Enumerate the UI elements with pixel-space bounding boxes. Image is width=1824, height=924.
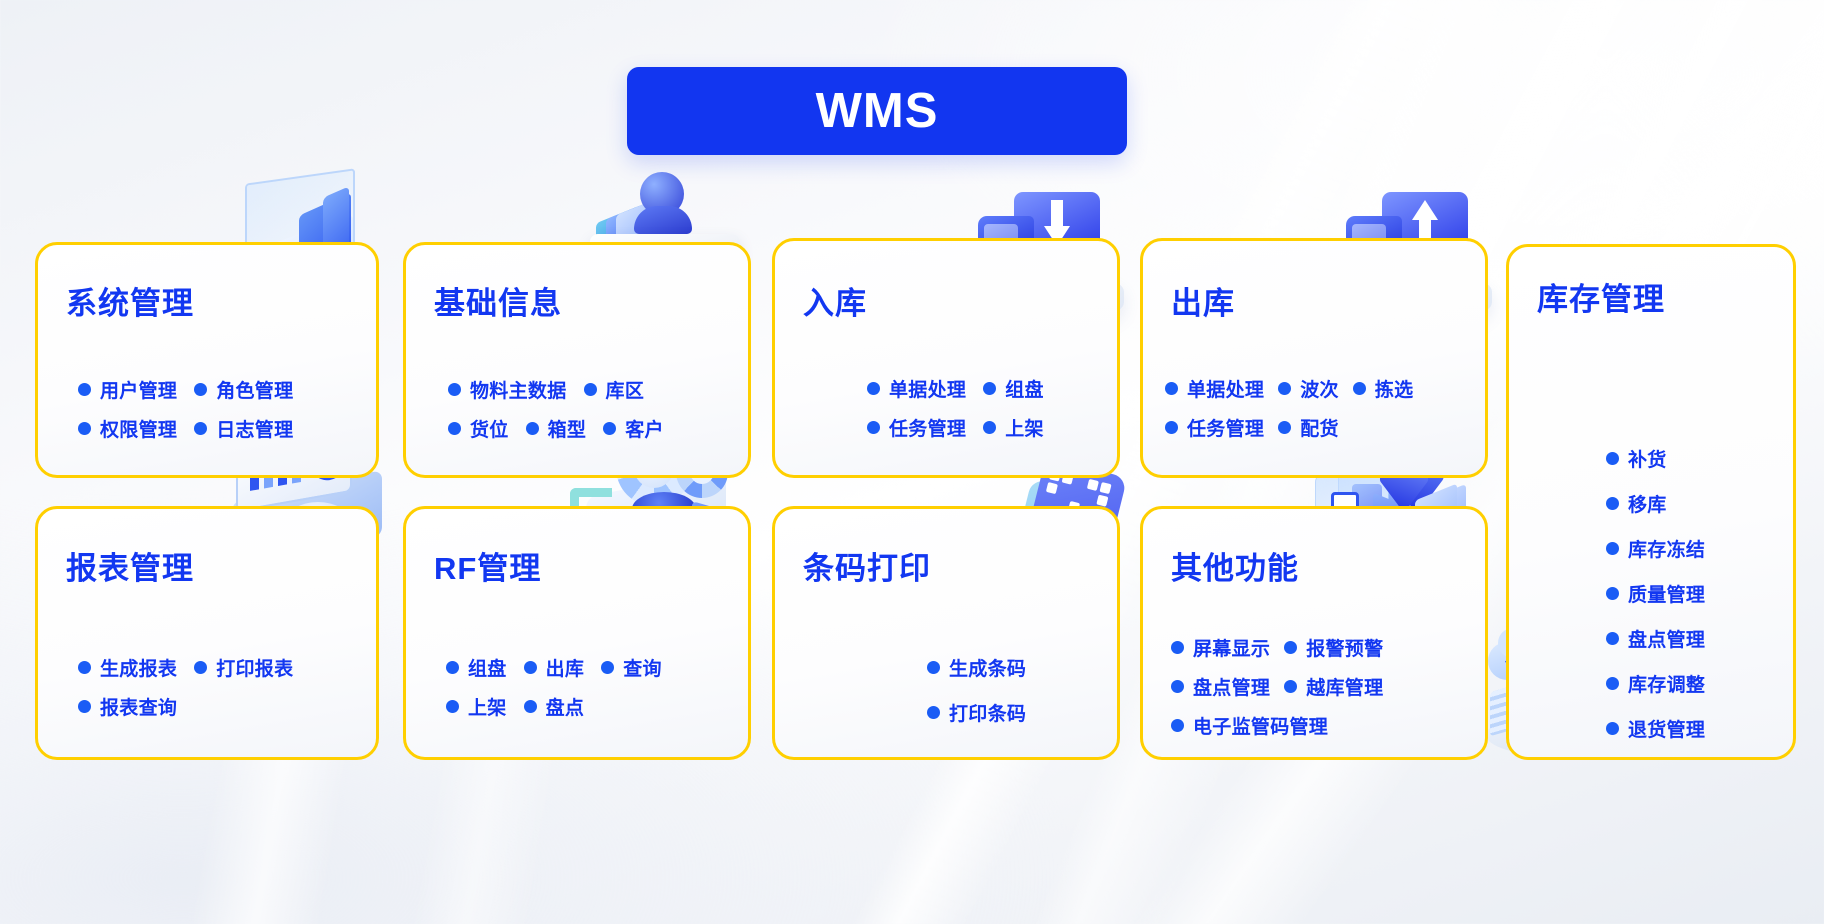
card-other-functions[interactable]: 其他功能 屏幕显示 报警预警 盘点管理 越库管理 电子监管码管理 <box>1140 506 1488 760</box>
list-item-label: 上架 <box>1005 414 1044 441</box>
list-item-label: 电子监管码管理 <box>1193 712 1328 739</box>
list-item[interactable]: 报表查询 <box>78 693 177 720</box>
list-item-label: 报表查询 <box>100 693 177 720</box>
bullet-dot-icon <box>1284 641 1297 654</box>
bullet-dot-icon <box>194 661 207 674</box>
list-item[interactable]: 生成条码 <box>927 654 1117 681</box>
list-item[interactable]: 质量管理 <box>1606 580 1791 607</box>
card-item-list: 补货 移库 库存冻结 质量管理 盘点管理 库存调整 退货管理 <box>1606 445 1791 742</box>
list-item-label: 出库 <box>546 654 585 681</box>
list-item[interactable]: 箱型 <box>526 415 587 442</box>
list-item[interactable]: 电子监管码管理 <box>1171 712 1328 739</box>
list-item-label: 移库 <box>1628 490 1667 517</box>
list-item-label: 退货管理 <box>1628 715 1705 742</box>
card-item-list: 物料主数据 库区 货位 箱型 客户 <box>448 376 720 442</box>
list-item-label: 补货 <box>1628 445 1667 472</box>
list-item-label: 盘点 <box>546 693 585 720</box>
card-title: 其他功能 <box>1171 543 1299 588</box>
bullet-dot-icon <box>983 421 996 434</box>
bullet-dot-icon <box>448 422 461 435</box>
list-item[interactable]: 补货 <box>1606 445 1791 472</box>
list-item[interactable]: 查询 <box>601 654 662 681</box>
bullet-dot-icon <box>1606 497 1619 510</box>
bullet-dot-icon <box>603 422 616 435</box>
bullet-dot-icon <box>1284 680 1297 693</box>
bullet-dot-icon <box>1606 632 1619 645</box>
bullet-dot-icon <box>78 383 91 396</box>
list-item[interactable]: 打印条码 <box>927 699 1117 726</box>
card-title: RF管理 <box>434 543 541 588</box>
list-item-label: 越库管理 <box>1306 673 1383 700</box>
bullet-dot-icon <box>983 382 996 395</box>
bullet-dot-icon <box>601 661 614 674</box>
list-item-label: 报警预警 <box>1306 634 1383 661</box>
card-title: 库存管理 <box>1537 274 1665 319</box>
bullet-dot-icon <box>1278 421 1291 434</box>
list-item[interactable]: 客户 <box>603 415 664 442</box>
list-item[interactable]: 退货管理 <box>1606 715 1791 742</box>
card-inventory-management[interactable]: 库存管理 补货 移库 库存冻结 质量管理 盘点管理 库存调整 退货管理 <box>1506 244 1796 760</box>
bullet-dot-icon <box>446 700 459 713</box>
list-item[interactable]: 物料主数据 <box>448 376 567 403</box>
card-barcode-printing[interactable]: 条码打印 生成条码 打印条码 <box>772 506 1120 760</box>
card-item-list: 单据处理 组盘 任务管理 上架 <box>867 375 1107 441</box>
card-item-list: 组盘 出库 查询 上架 盘点 <box>446 654 726 720</box>
list-item[interactable]: 盘点 <box>524 693 585 720</box>
list-item-label: 物料主数据 <box>470 376 567 403</box>
card-system-management[interactable]: 系统管理 用户管理 角色管理 权限管理 日志管理 <box>35 242 379 478</box>
bullet-dot-icon <box>1165 382 1178 395</box>
list-item[interactable]: 组盘 <box>983 375 1044 402</box>
bullet-dot-icon <box>1606 542 1619 555</box>
card-title: 出库 <box>1171 278 1235 323</box>
list-item[interactable]: 波次 <box>1278 375 1339 402</box>
card-item-list: 屏幕显示 报警预警 盘点管理 越库管理 电子监管码管理 <box>1171 634 1483 739</box>
bullet-dot-icon <box>526 422 539 435</box>
bullet-dot-icon <box>927 706 940 719</box>
card-title: 基础信息 <box>434 278 562 323</box>
list-item-label: 库存调整 <box>1628 670 1705 697</box>
wms-title-label: WMS <box>816 83 939 139</box>
list-item[interactable]: 拣选 <box>1353 375 1414 402</box>
list-item-label: 客户 <box>625 415 664 442</box>
list-item-label: 任务管理 <box>1187 414 1264 441</box>
bullet-dot-icon <box>927 661 940 674</box>
bullet-dot-icon <box>1165 421 1178 434</box>
bullet-dot-icon <box>1606 587 1619 600</box>
card-item-list: 生成条码 打印条码 <box>927 654 1117 726</box>
list-item-label: 盘点管理 <box>1193 673 1270 700</box>
list-item[interactable]: 库区 <box>584 376 645 403</box>
list-item-label: 角色管理 <box>216 376 293 403</box>
list-item-label: 打印条码 <box>949 699 1026 726</box>
list-item-label: 货位 <box>470 415 509 442</box>
card-outbound[interactable]: 出库 单据处理 波次 拣选 任务管理 配货 <box>1140 238 1488 478</box>
bullet-dot-icon <box>446 661 459 674</box>
list-item[interactable]: 日志管理 <box>194 415 293 442</box>
list-item-label: 权限管理 <box>100 415 177 442</box>
list-item[interactable]: 用户管理 <box>78 376 177 403</box>
list-item[interactable]: 出库 <box>524 654 585 681</box>
card-item-list: 单据处理 波次 拣选 任务管理 配货 <box>1165 375 1485 441</box>
bullet-dot-icon <box>1171 641 1184 654</box>
bullet-dot-icon <box>524 700 537 713</box>
list-item[interactable]: 单据处理 <box>1165 375 1264 402</box>
bullet-dot-icon <box>194 383 207 396</box>
list-item[interactable]: 任务管理 <box>867 414 966 441</box>
bullet-dot-icon <box>1606 677 1619 690</box>
card-title: 报表管理 <box>66 543 194 588</box>
bullet-dot-icon <box>448 383 461 396</box>
list-item[interactable]: 库存调整 <box>1606 670 1791 697</box>
list-item-label: 波次 <box>1300 375 1339 402</box>
list-item[interactable]: 越库管理 <box>1284 673 1383 700</box>
list-item-label: 组盘 <box>468 654 507 681</box>
list-item-label: 生成条码 <box>949 654 1026 681</box>
list-item-label: 拣选 <box>1375 375 1414 402</box>
list-item[interactable]: 库存冻结 <box>1606 535 1791 562</box>
wms-title-badge: WMS <box>627 67 1127 155</box>
card-item-list: 用户管理 角色管理 权限管理 日志管理 <box>78 376 346 442</box>
bullet-dot-icon <box>1171 719 1184 732</box>
list-item[interactable]: 配货 <box>1278 414 1339 441</box>
list-item-label: 箱型 <box>548 415 587 442</box>
list-item[interactable]: 货位 <box>448 415 509 442</box>
card-rf-management[interactable]: RF管理 组盘 出库 查询 上架 盘点 <box>403 506 751 760</box>
list-item-label: 质量管理 <box>1628 580 1705 607</box>
list-item-label: 打印报表 <box>216 654 293 681</box>
list-item-label: 单据处理 <box>889 375 966 402</box>
list-item-label: 用户管理 <box>100 376 177 403</box>
list-item-label: 查询 <box>623 654 662 681</box>
list-item[interactable]: 任务管理 <box>1165 414 1264 441</box>
bullet-dot-icon <box>78 422 91 435</box>
list-item[interactable]: 权限管理 <box>78 415 177 442</box>
list-item-label: 任务管理 <box>889 414 966 441</box>
list-item-label: 库存冻结 <box>1628 535 1705 562</box>
bullet-dot-icon <box>1171 680 1184 693</box>
list-item-label: 单据处理 <box>1187 375 1264 402</box>
card-inbound[interactable]: 入库 单据处理 组盘 任务管理 上架 <box>772 238 1120 478</box>
card-report-management[interactable]: 报表管理 生成报表 打印报表 报表查询 <box>35 506 379 760</box>
bullet-dot-icon <box>524 661 537 674</box>
bullet-dot-icon <box>867 382 880 395</box>
list-item-label: 库区 <box>606 376 645 403</box>
bullet-dot-icon <box>1606 722 1619 735</box>
list-item[interactable]: 生成报表 <box>78 654 177 681</box>
list-item[interactable]: 角色管理 <box>194 376 293 403</box>
list-item[interactable]: 上架 <box>983 414 1044 441</box>
list-item[interactable]: 组盘 <box>446 654 507 681</box>
bullet-dot-icon <box>78 700 91 713</box>
card-title: 系统管理 <box>66 278 194 323</box>
list-item-label: 上架 <box>468 693 507 720</box>
list-item-label: 配货 <box>1300 414 1339 441</box>
list-item-label: 盘点管理 <box>1628 625 1705 652</box>
bullet-dot-icon <box>1353 382 1366 395</box>
list-item-label: 生成报表 <box>100 654 177 681</box>
bullet-dot-icon <box>194 422 207 435</box>
list-item[interactable]: 打印报表 <box>194 654 293 681</box>
list-item[interactable]: 上架 <box>446 693 507 720</box>
bullet-dot-icon <box>1278 382 1291 395</box>
list-item[interactable]: 移库 <box>1606 490 1791 517</box>
list-item[interactable]: 盘点管理 <box>1171 673 1270 700</box>
list-item[interactable]: 报警预警 <box>1284 634 1383 661</box>
list-item[interactable]: 屏幕显示 <box>1171 634 1270 661</box>
list-item-label: 日志管理 <box>216 415 293 442</box>
bullet-dot-icon <box>584 383 597 396</box>
bullet-dot-icon <box>1606 452 1619 465</box>
card-basic-information[interactable]: 基础信息 物料主数据 库区 货位 箱型 客户 <box>403 242 751 478</box>
bullet-dot-icon <box>867 421 880 434</box>
list-item-label: 组盘 <box>1005 375 1044 402</box>
list-item-label: 屏幕显示 <box>1193 634 1270 661</box>
list-item[interactable]: 单据处理 <box>867 375 966 402</box>
card-item-list: 生成报表 打印报表 报表查询 <box>78 654 358 720</box>
card-title: 条码打印 <box>803 543 931 588</box>
bullet-dot-icon <box>78 661 91 674</box>
card-title: 入库 <box>803 278 867 323</box>
list-item[interactable]: 盘点管理 <box>1606 625 1791 652</box>
